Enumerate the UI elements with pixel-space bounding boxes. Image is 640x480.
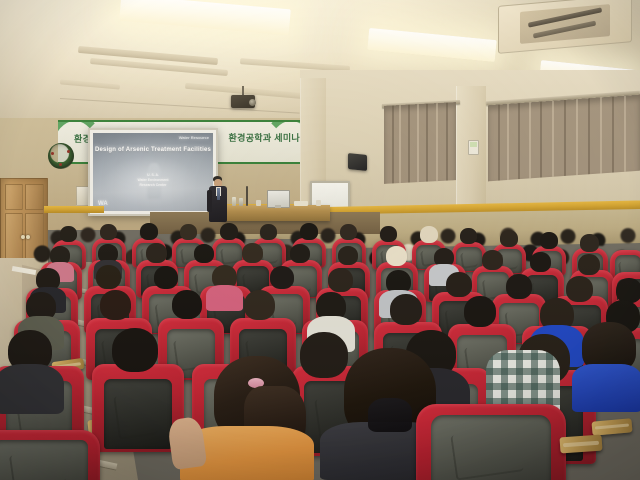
table-bottle	[239, 198, 243, 206]
slide-title: Design of Arsenic Treatment Facilities	[93, 147, 213, 153]
table-bottle	[232, 197, 236, 206]
projection-screen: Water Resource Design of Arsenic Treatme…	[88, 128, 218, 216]
presenter-tie	[217, 188, 220, 200]
lecture-hall-photo: 환경 환경공학과 세미나 Water Resource Design of Ar…	[0, 0, 640, 480]
seat-armrest	[591, 418, 632, 435]
auditorium-seat-foreground[interactable]	[0, 430, 100, 480]
slide-subtitle-3: Research Center	[93, 183, 213, 187]
wall-speaker	[348, 153, 367, 171]
raised-arm	[167, 416, 208, 470]
table-microphone	[246, 186, 248, 206]
auditorium-seat-foreground[interactable]	[416, 404, 566, 480]
slide-subtitle-2: Water Environment	[93, 178, 213, 182]
light-switch-plate[interactable]	[468, 140, 479, 155]
audience-member-blue-top	[576, 322, 640, 408]
projected-slide: Water Resource Design of Arsenic Treatme…	[93, 133, 213, 211]
slide-corner-text: Water Resource	[179, 135, 209, 140]
seat-armrest-foreground	[559, 435, 602, 454]
window-curtain	[384, 102, 456, 184]
audience-bag	[368, 398, 412, 432]
slide-subtitle-1: U. S. A.	[93, 173, 213, 177]
projector-lens	[249, 99, 256, 106]
window-curtain	[488, 95, 640, 182]
banner-text-right: 환경공학과 세미나	[229, 131, 300, 144]
